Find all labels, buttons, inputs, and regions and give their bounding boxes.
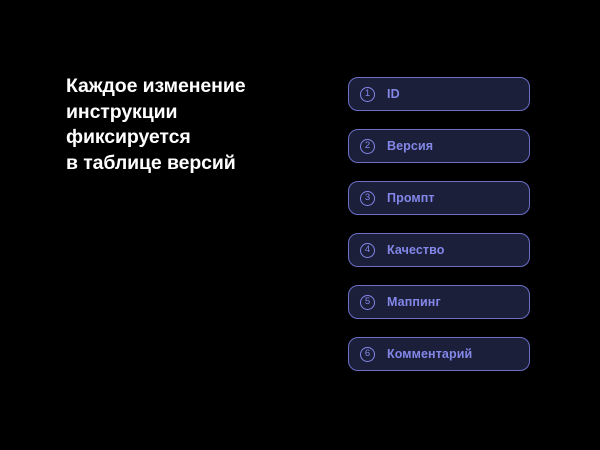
step-number-badge: 4 (360, 243, 375, 258)
list-item[interactable]: 5 Маппинг (348, 285, 530, 319)
step-number-badge: 3 (360, 191, 375, 206)
list-item[interactable]: 2 Версия (348, 129, 530, 163)
step-number-badge: 2 (360, 139, 375, 154)
list-item[interactable]: 1 ID (348, 77, 530, 111)
version-field-list: 1 ID 2 Версия 3 Промпт 4 Качество 5 Мапп… (348, 77, 530, 371)
list-item[interactable]: 3 Промпт (348, 181, 530, 215)
list-item-label: Маппинг (387, 295, 441, 309)
step-number-badge: 6 (360, 347, 375, 362)
list-item-label: Комментарий (387, 347, 472, 361)
page-title: Каждое изменение инструкции фиксируется … (66, 74, 316, 176)
slide-canvas: Каждое изменение инструкции фиксируется … (0, 0, 600, 450)
list-item-label: Промпт (387, 191, 435, 205)
step-number-badge: 5 (360, 295, 375, 310)
list-item-label: ID (387, 87, 400, 101)
list-item-label: Качество (387, 243, 445, 257)
list-item[interactable]: 6 Комментарий (348, 337, 530, 371)
list-item-label: Версия (387, 139, 433, 153)
step-number-badge: 1 (360, 87, 375, 102)
list-item[interactable]: 4 Качество (348, 233, 530, 267)
